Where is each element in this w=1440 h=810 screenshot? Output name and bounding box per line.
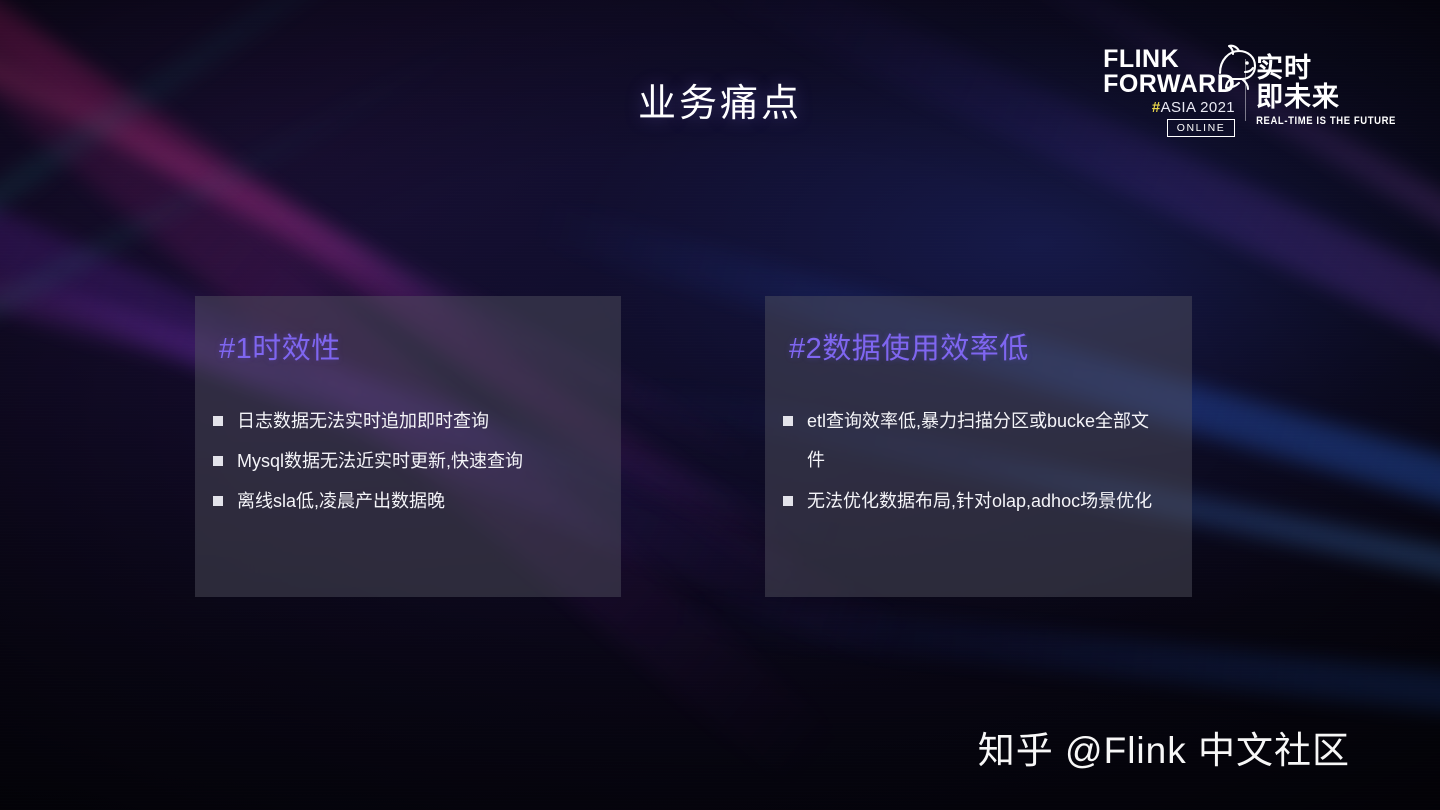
logo-cn-line-1: 实时 <box>1256 54 1396 82</box>
bullet-text: 无法优化数据布局,针对olap,adhoc场景优化 <box>807 482 1159 521</box>
list-item: Mysql数据无法近实时更新,快速查询 <box>213 442 607 480</box>
logo-asia-line: #ASIA 2021 <box>1103 99 1235 116</box>
bullet-text: etl查询效率低,暴力扫描分区或bucke全部文件 <box>807 402 1159 480</box>
list-item: etl查询效率低,暴力扫描分区或bucke全部文件 <box>783 402 1178 480</box>
list-item: 日志数据无法实时追加即时查询 <box>213 402 607 440</box>
bullet-text: 日志数据无法实时追加即时查询 <box>237 402 607 440</box>
card-1-bullet-list: 日志数据无法实时追加即时查询 Mysql数据无法近实时更新,快速查询 离线sla… <box>213 402 607 522</box>
bullet-text: 离线sla低,凌晨产出数据晚 <box>237 482 607 520</box>
logo-asia-text: ASIA 2021 <box>1161 99 1236 116</box>
card-2-bullet-list: etl查询效率低,暴力扫描分区或bucke全部文件 无法优化数据布局,针对ola… <box>783 402 1178 523</box>
pain-point-card-2: #2数据使用效率低 etl查询效率低,暴力扫描分区或bucke全部文件 无法优化… <box>765 296 1192 597</box>
bullet-square-icon <box>213 416 223 426</box>
squirrel-icon <box>1207 43 1261 93</box>
pain-point-card-1: #1时效性 日志数据无法实时追加即时查询 Mysql数据无法近实时更新,快速查询… <box>195 296 621 597</box>
ray-teal-2 <box>0 21 503 344</box>
logo-tagline: REAL-TIME IS THE FUTURE <box>1256 115 1396 128</box>
flink-forward-logo: FLINK FORWARD #ASIA 2021 ONLINE 实时 即未来 R… <box>1103 46 1396 134</box>
bullet-square-icon <box>213 456 223 466</box>
bullet-square-icon <box>783 416 793 426</box>
ray-blue-3 <box>663 590 1440 720</box>
ray-teal-1 <box>0 0 536 270</box>
card-2-heading: #2数据使用效率低 <box>789 333 1029 366</box>
bullet-square-icon <box>783 496 793 506</box>
logo-cn-line-2: 即未来 <box>1256 83 1396 111</box>
slide-canvas: 业务痛点 FLINK FORWARD #ASIA 2021 ONLINE 实时 <box>0 0 1440 810</box>
logo-wordmark: FLINK FORWARD #ASIA 2021 ONLINE <box>1103 47 1235 133</box>
watermark: 知乎 @Flink 中文社区 <box>978 720 1350 774</box>
list-item: 离线sla低,凌晨产出数据晚 <box>213 482 607 520</box>
logo-hash-symbol: # <box>1152 99 1161 116</box>
card-1-heading: #1时效性 <box>219 333 341 366</box>
list-item: 无法优化数据布局,针对olap,adhoc场景优化 <box>783 482 1178 521</box>
logo-chinese-lockup: 实时 即未来 REAL-TIME IS THE FUTURE <box>1256 54 1396 125</box>
bullet-square-icon <box>213 496 223 506</box>
logo-online-badge: ONLINE <box>1167 119 1235 137</box>
bullet-text: Mysql数据无法近实时更新,快速查询 <box>237 442 607 480</box>
